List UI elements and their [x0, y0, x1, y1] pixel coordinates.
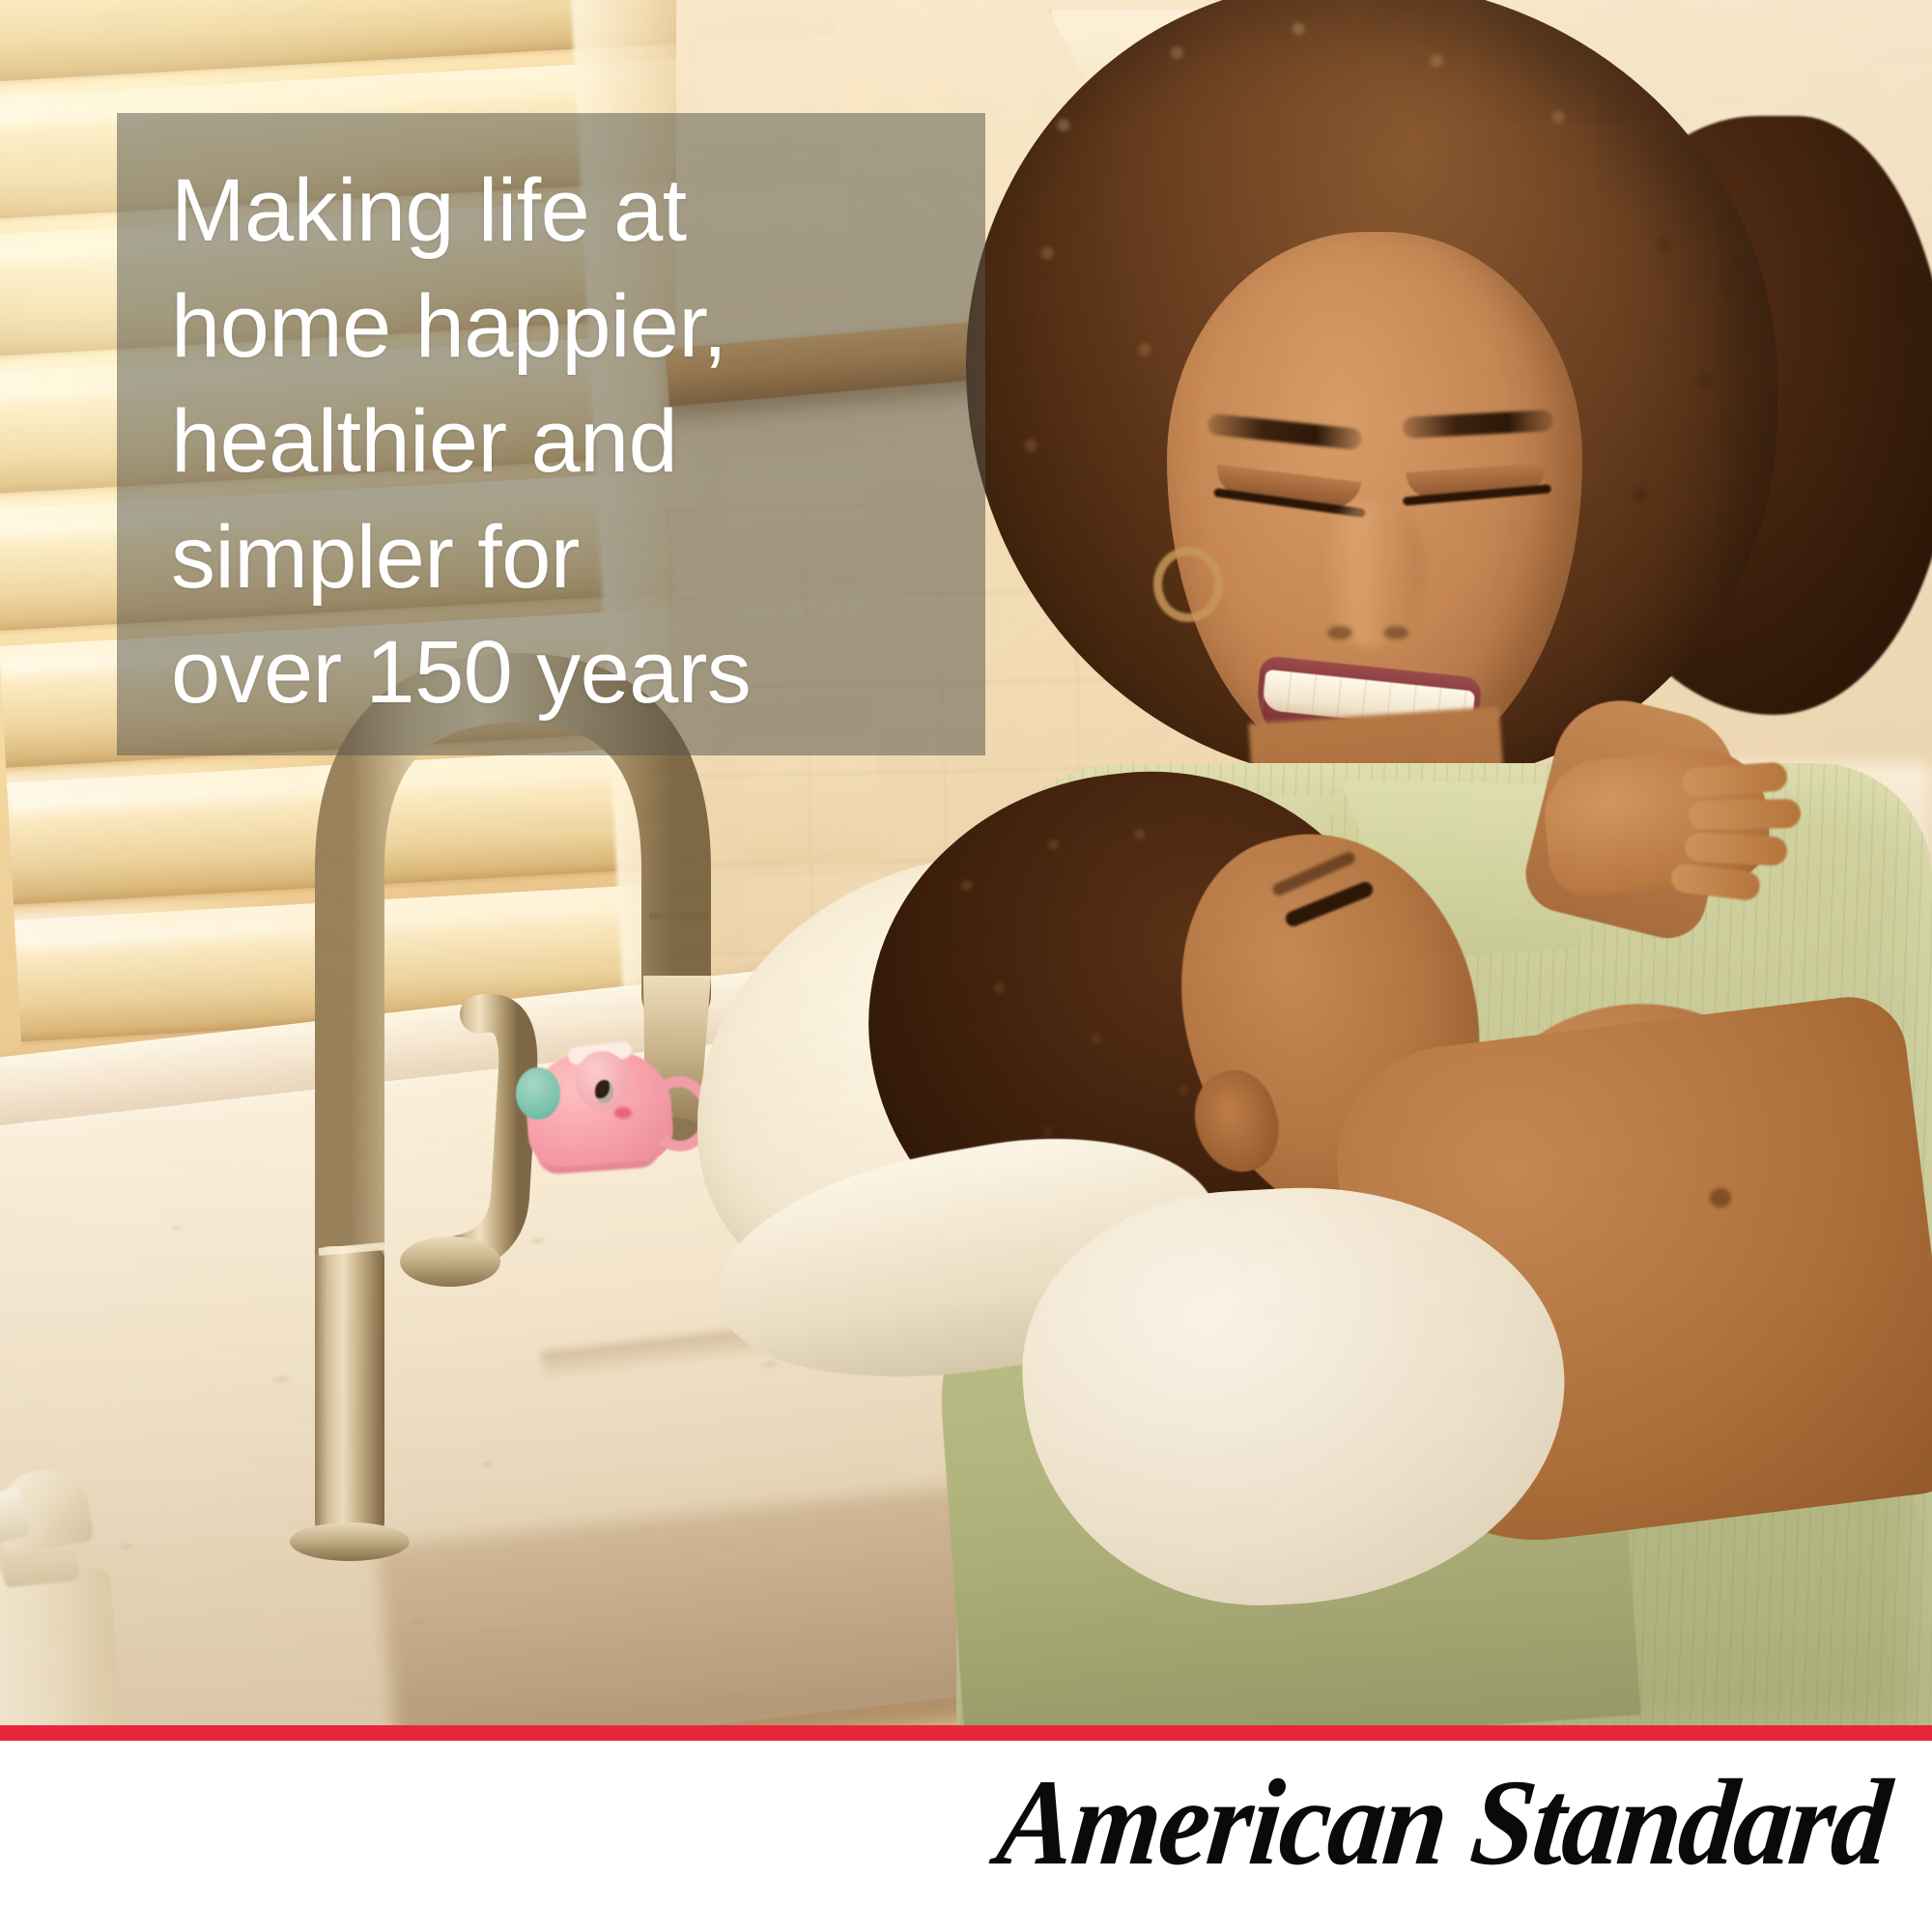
hero-photo: Making life at home happier, healthier a… [0, 0, 1932, 1725]
brand-footer: American Standard [0, 1741, 1932, 1932]
headline-overlay-panel: Making life at home happier, healthier a… [117, 113, 985, 755]
baby-finger [1684, 832, 1787, 867]
mother-nostril-left [1327, 626, 1352, 639]
advertisement-creative: Making life at home happier, healthier a… [0, 0, 1932, 1932]
headline-text: Making life at home happier, healthier a… [171, 154, 931, 731]
mother-nostril-right [1383, 626, 1408, 639]
baby-chest-detail [1710, 1188, 1731, 1207]
baby-finger [1689, 799, 1802, 830]
brand-accent-bar [0, 1725, 1932, 1741]
hoop-earring-icon [1153, 547, 1223, 622]
american-standard-logo: American Standard [992, 1761, 1893, 1884]
